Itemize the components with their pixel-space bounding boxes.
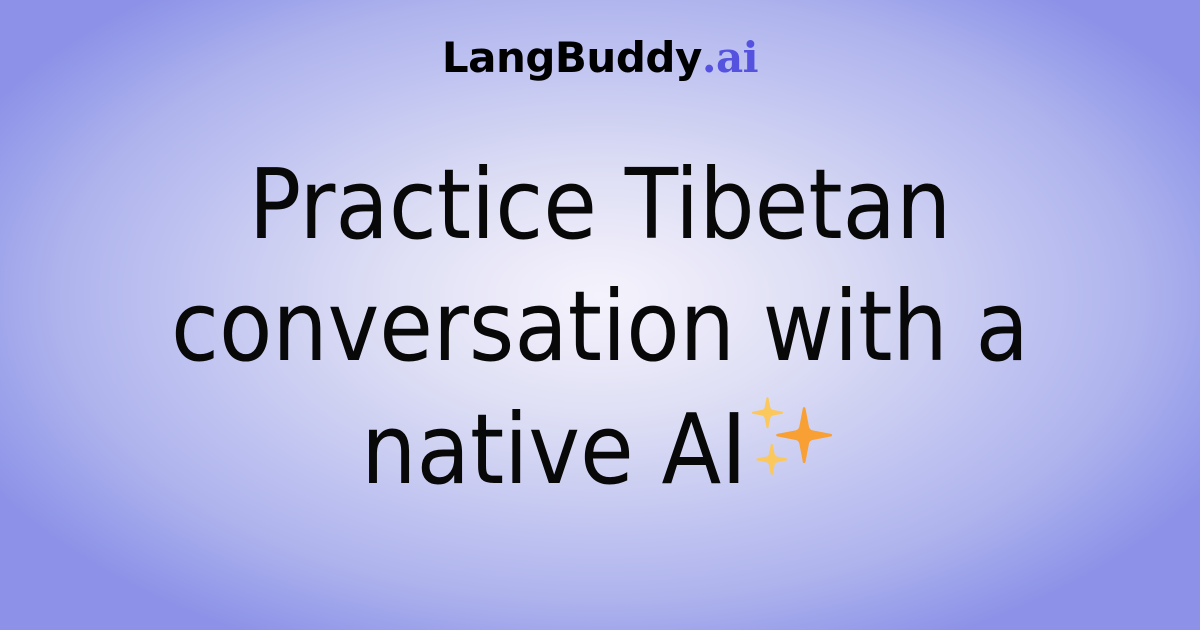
headline-container: Practice Tibetan conversation with a nat… xyxy=(60,79,1140,630)
brand-logo-name: LangBuddy xyxy=(442,33,702,82)
sparkles-icon xyxy=(747,391,839,483)
brand-logo-suffix: .ai xyxy=(702,33,758,82)
brand-logo: LangBuddy.ai xyxy=(442,37,758,79)
headline-text: Practice Tibetan conversation with a nat… xyxy=(171,148,1029,505)
page-title: Practice Tibetan conversation with a nat… xyxy=(60,144,1140,511)
og-card: LangBuddy.ai Practice Tibetan conversati… xyxy=(0,0,1200,630)
